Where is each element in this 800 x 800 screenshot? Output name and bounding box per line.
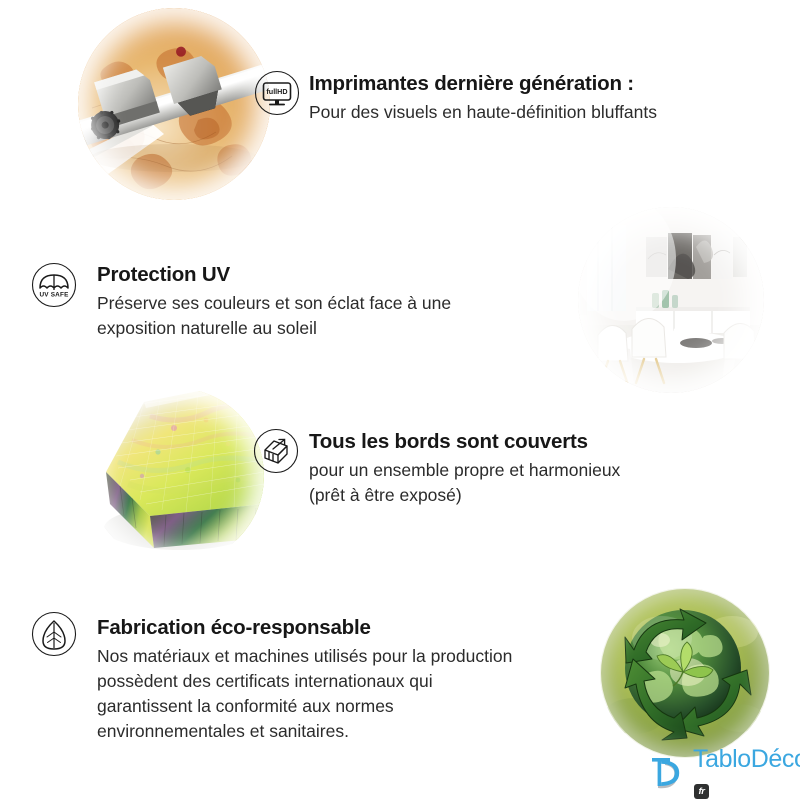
colorful-canvas-corner-photo xyxy=(88,388,264,564)
feature-block-uv-protection: Protection UV Préserve ses couleurs et s… xyxy=(97,263,451,341)
feature-line: Nos matériaux et machines utilisés pour … xyxy=(97,644,512,669)
brand-wordmark: TabloDéco™fr xyxy=(693,745,800,800)
tablodeco-d-monogram-icon xyxy=(648,754,690,794)
feature-title: Protection UV xyxy=(97,263,451,287)
feature-line: garantissent la conformité aux normes xyxy=(97,694,512,719)
feature-line: pour un ensemble propre et harmonieux xyxy=(309,458,620,483)
feature-block-covered-edges: Tous les bords sont couverts pour un ens… xyxy=(309,430,620,508)
feature-title: Tous les bords sont couverts xyxy=(309,430,620,454)
bright-dining-room-with-canvas-photo xyxy=(578,207,764,393)
feature-block-eco-manufacturing: Fabrication éco-responsable Nos matériau… xyxy=(97,616,512,744)
brand-logo[interactable]: TabloDéco™fr xyxy=(648,752,800,796)
feature-title: Imprimantes dernière génération : xyxy=(309,72,657,96)
wrapped-canvas-edge-icon xyxy=(253,428,299,474)
green-earth-recycling-photo xyxy=(600,588,770,758)
feature-line: Préserve ses couleurs et son éclat face … xyxy=(97,291,451,316)
svg-text:fullHD: fullHD xyxy=(266,87,287,96)
feature-block-print-quality: Imprimantes dernière génération : Pour d… xyxy=(309,72,657,125)
infographic-page: fullHD Imprimantes dernière génération :… xyxy=(0,0,800,800)
fullhd-monitor-icon: fullHD xyxy=(254,70,300,116)
feature-line: Pour des visuels en haute-définition blu… xyxy=(309,100,657,125)
svg-text:UV SAFE: UV SAFE xyxy=(39,291,69,298)
feature-line: exposition naturelle au soleil xyxy=(97,316,451,341)
feature-line: (prêt à être exposé) xyxy=(309,483,620,508)
feature-title: Fabrication éco-responsable xyxy=(97,616,512,640)
domain-badge: fr xyxy=(694,784,709,799)
leaf-icon xyxy=(31,611,77,657)
feature-line: environnementales et sanitaires. xyxy=(97,719,512,744)
feature-line: possèdent des certificats internationaux… xyxy=(97,669,512,694)
uv-safe-umbrella-icon: UV SAFE xyxy=(31,262,77,308)
printer-head-over-world-map-photo xyxy=(78,8,270,200)
brand-name: TabloDéco xyxy=(693,745,800,773)
